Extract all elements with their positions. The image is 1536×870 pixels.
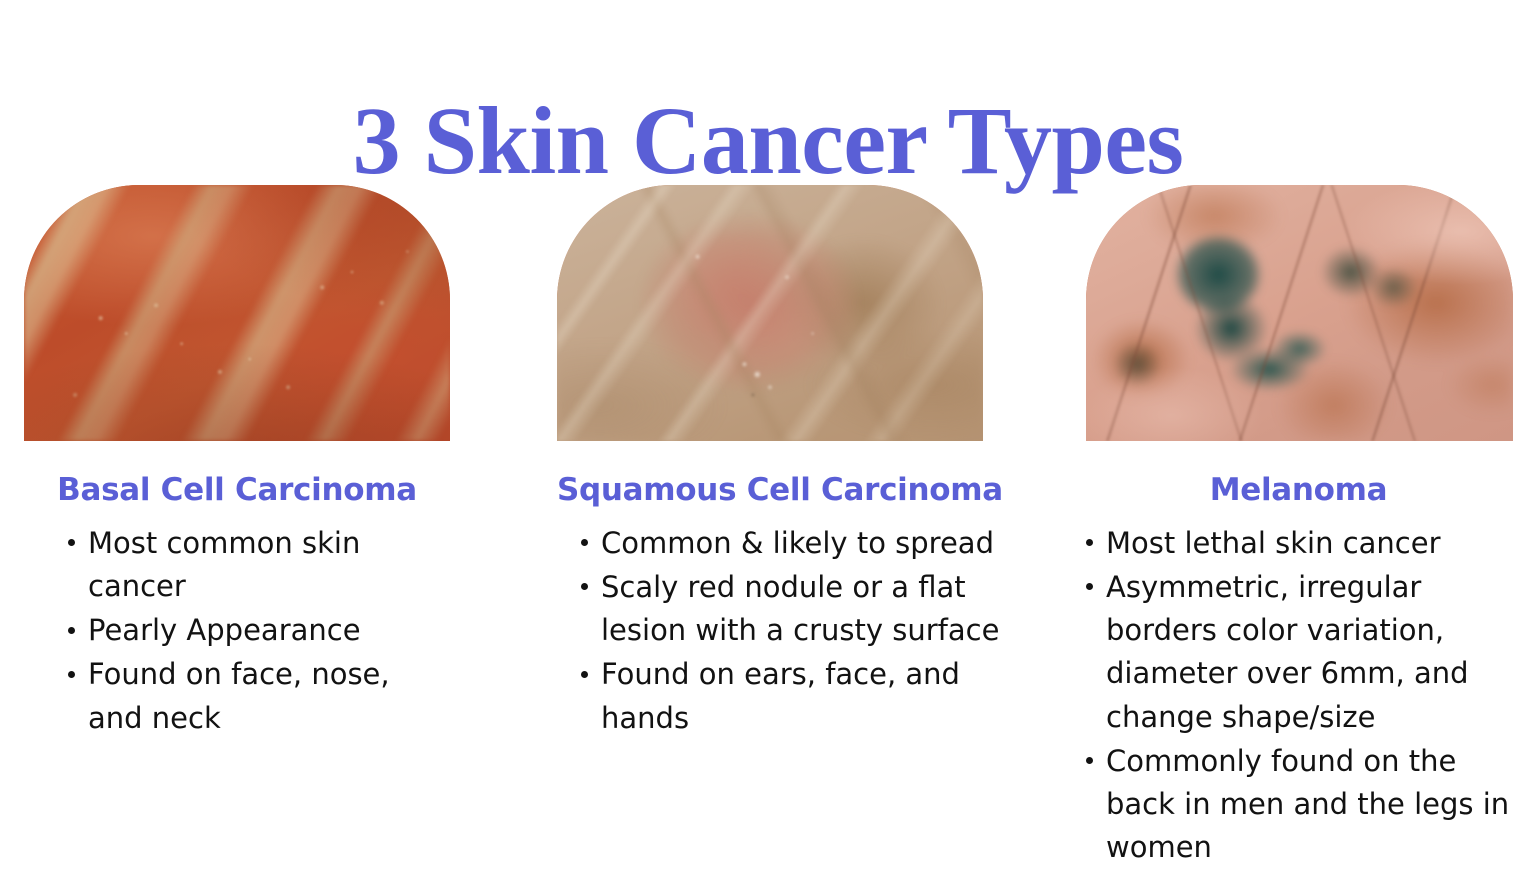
list-item-label: Common & likely to spread <box>601 526 994 560</box>
cancer-type-heading-melanoma: Melanoma <box>1086 473 1513 508</box>
bullet-dot-icon <box>581 671 588 678</box>
list-item-label: Commonly found on the back in men and th… <box>1106 744 1509 864</box>
photo-skin-shading-layer <box>24 185 450 441</box>
cancer-type-card-squamous-cell-carcinoma: Squamous Cell Carcinoma Common & likely … <box>557 185 983 741</box>
bullet-dot-icon <box>1086 583 1093 590</box>
cancer-type-heading-squamous-cell-carcinoma: Squamous Cell Carcinoma <box>557 473 983 508</box>
list-item: Commonly found on the back in men and th… <box>1086 740 1518 870</box>
bullet-dot-icon <box>581 539 588 546</box>
list-item-label: Asymmetric, irregular borders color vari… <box>1106 570 1469 734</box>
list-item-label: Most common skin cancer <box>88 526 360 603</box>
bullet-dot-icon <box>581 583 588 590</box>
cancer-type-card-melanoma: Melanoma Most lethal skin cancer Asymmet… <box>1086 185 1513 870</box>
cancer-type-heading-basal-cell-carcinoma: Basal Cell Carcinoma <box>24 473 450 508</box>
cancer-type-columns: Basal Cell Carcinoma Most common skin ca… <box>0 0 1536 865</box>
list-item: Most common skin cancer <box>68 522 450 608</box>
list-item-label: Found on ears, face, and hands <box>601 657 960 734</box>
list-item-label: Pearly Appearance <box>88 613 361 647</box>
list-item: Pearly Appearance <box>68 609 450 652</box>
cancer-type-card-basal-cell-carcinoma: Basal Cell Carcinoma Most common skin ca… <box>24 185 450 741</box>
list-item-label: Scaly red nodule or a flat lesion with a… <box>601 570 999 647</box>
melanoma-photo <box>1086 185 1513 441</box>
basal-cell-carcinoma-photo <box>24 185 450 441</box>
bullet-dot-icon <box>1086 539 1093 546</box>
photo-crust-specks-layer <box>557 185 983 441</box>
squamous-cell-carcinoma-photo <box>557 185 983 441</box>
photo-skin-highlight-layer <box>1086 185 1513 441</box>
list-item: Scaly red nodule or a flat lesion with a… <box>581 566 1036 652</box>
cancer-type-bullet-list-melanoma: Most lethal skin cancer Asymmetric, irre… <box>1086 522 1518 870</box>
list-item: Common & likely to spread <box>581 522 1036 565</box>
cancer-type-bullet-list-basal-cell-carcinoma: Most common skin cancer Pearly Appearanc… <box>24 522 450 740</box>
list-item-label: Found on face, nose, and neck <box>88 657 390 734</box>
cancer-type-bullet-list-squamous-cell-carcinoma: Common & likely to spread Scaly red nodu… <box>557 522 1036 740</box>
bullet-dot-icon <box>68 627 75 634</box>
infographic-page: 3 Skin Cancer Types Basal Cell Carcinoma… <box>0 0 1536 865</box>
bullet-dot-icon <box>68 539 75 546</box>
bullet-dot-icon <box>68 671 75 678</box>
list-item: Found on ears, face, and hands <box>581 653 1036 739</box>
list-item-label: Most lethal skin cancer <box>1106 526 1441 560</box>
list-item: Most lethal skin cancer <box>1086 522 1518 565</box>
list-item: Found on face, nose, and neck <box>68 653 450 739</box>
list-item: Asymmetric, irregular borders color vari… <box>1086 566 1518 739</box>
bullet-dot-icon <box>1086 757 1093 764</box>
